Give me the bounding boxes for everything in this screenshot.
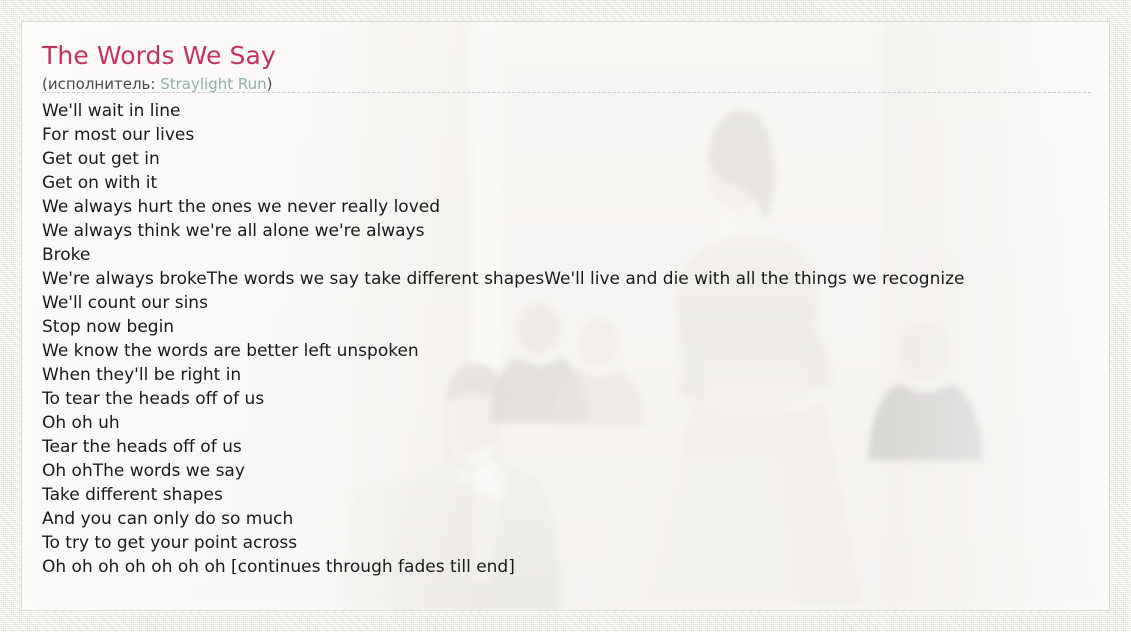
lyric-line: Oh ohThe words we say xyxy=(42,459,1110,483)
lyric-line: To tear the heads off of us xyxy=(42,387,1110,411)
artist-suffix-label: ) xyxy=(267,75,273,93)
lyric-line: Oh oh oh oh oh oh oh [continues through … xyxy=(42,555,1110,579)
page-title: The Words We Say xyxy=(42,41,1094,71)
lyrics-body: We'll wait in lineFor most our livesGet … xyxy=(42,99,1110,579)
lyric-line: We'll count our sins xyxy=(42,291,1110,315)
header: The Words We Say (исполнитель: Strayligh… xyxy=(42,41,1094,94)
lyric-line: When they'll be right in xyxy=(42,363,1110,387)
lyric-line: Get out get in xyxy=(42,147,1110,171)
artist-link[interactable]: Straylight Run xyxy=(160,75,266,93)
lyric-line: Oh oh uh xyxy=(42,411,1110,435)
lyric-line: We're always brokeThe words we say take … xyxy=(42,267,1110,291)
lyric-line: Tear the heads off of us xyxy=(42,435,1110,459)
lyric-line: To try to get your point across xyxy=(42,531,1110,555)
lyric-line: We always think we're all alone we're al… xyxy=(42,219,1110,243)
lyric-line: We'll wait in line xyxy=(42,99,1110,123)
lyric-line: Take different shapes xyxy=(42,483,1110,507)
lyric-line: Stop now begin xyxy=(42,315,1110,339)
lyric-line: For most our lives xyxy=(42,123,1110,147)
lyrics-card: The Words We Say (исполнитель: Strayligh… xyxy=(21,21,1110,611)
lyrics-page: The Words We Say (исполнитель: Strayligh… xyxy=(0,0,1131,632)
lyric-line: Get on with it xyxy=(42,171,1110,195)
lyric-line: And you can only do so much xyxy=(42,507,1110,531)
lyric-line: We always hurt the ones we never really … xyxy=(42,195,1110,219)
artist-prefix-label: (исполнитель: xyxy=(42,75,155,93)
lyrics-content: The Words We Say (исполнитель: Strayligh… xyxy=(22,22,1110,611)
lyric-line: Broke xyxy=(42,243,1110,267)
lyric-line: We know the words are better left unspok… xyxy=(42,339,1110,363)
header-divider xyxy=(42,92,1091,93)
